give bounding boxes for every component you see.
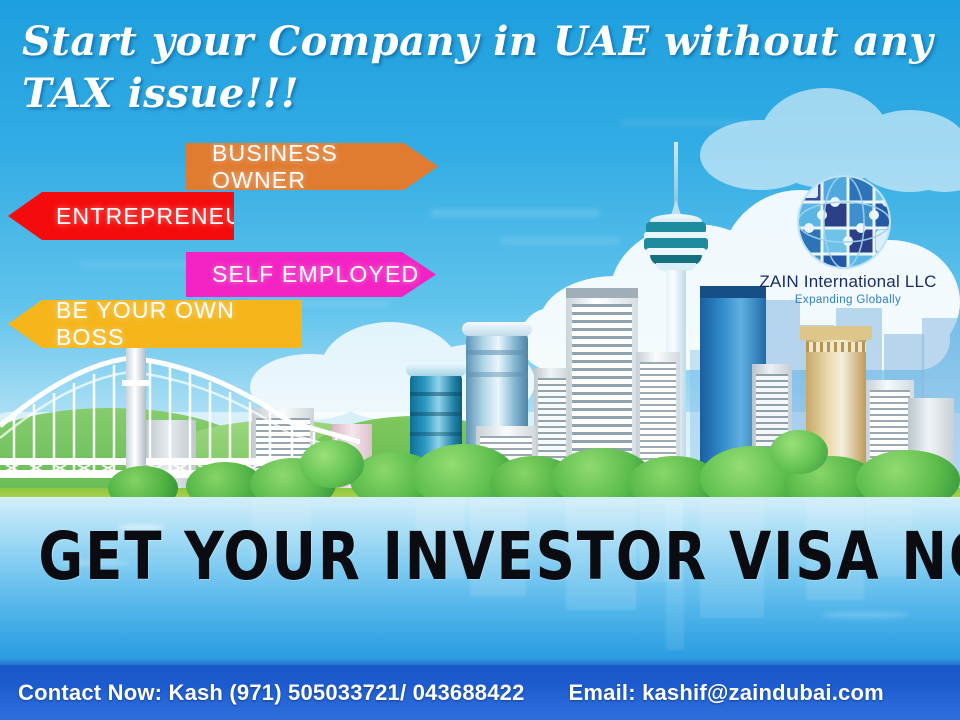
banner-label: BUSINESS OWNER: [212, 140, 438, 194]
banner-label: SELF EMPLOYED: [212, 261, 419, 288]
promotional-poster: Start your Company in UAE without any TA…: [0, 0, 960, 720]
contact-email-text[interactable]: Email: kashif@zaindubai.com: [569, 680, 884, 706]
company-logo[interactable]: ZAIN International LLC Expanding Globall…: [742, 172, 954, 312]
banner-business-owner[interactable]: BUSINESS OWNER: [186, 143, 438, 190]
building-cornice: [800, 326, 872, 340]
contact-phone-text[interactable]: Contact Now: Kash (971) 505033721/ 04368…: [18, 680, 525, 706]
water-glint: [820, 612, 910, 618]
building-cylinder-cap: [406, 364, 466, 376]
building-band: [410, 432, 462, 436]
building-detail: [806, 342, 866, 352]
main-slogan: GET YOUR INVESTOR VISA NOW: [38, 522, 921, 592]
banner-label: ENTREPRENEUR: [56, 203, 261, 230]
building-band: [410, 412, 462, 416]
building-band: [466, 350, 528, 355]
banner-be-your-own-boss[interactable]: BE YOUR OWN BOSS: [8, 300, 302, 348]
logo-company-name: ZAIN International LLC: [742, 272, 954, 292]
puzzle-globe-icon: [788, 172, 900, 272]
banner-entrepreneur[interactable]: ENTREPRENEUR: [8, 192, 234, 240]
banner-self-employed[interactable]: SELF EMPLOYED: [186, 252, 436, 297]
building-band: [410, 392, 462, 396]
building-cylinder-cap: [462, 322, 532, 336]
logo-tagline: Expanding Globally: [742, 294, 954, 306]
banner-label: BE YOUR OWN BOSS: [56, 297, 302, 351]
building-band: [466, 372, 528, 377]
building-roof: [566, 288, 638, 298]
contact-bar: Contact Now: Kash (971) 505033721/ 04368…: [0, 665, 960, 720]
page-title: Start your Company in UAE without any TA…: [22, 16, 952, 120]
